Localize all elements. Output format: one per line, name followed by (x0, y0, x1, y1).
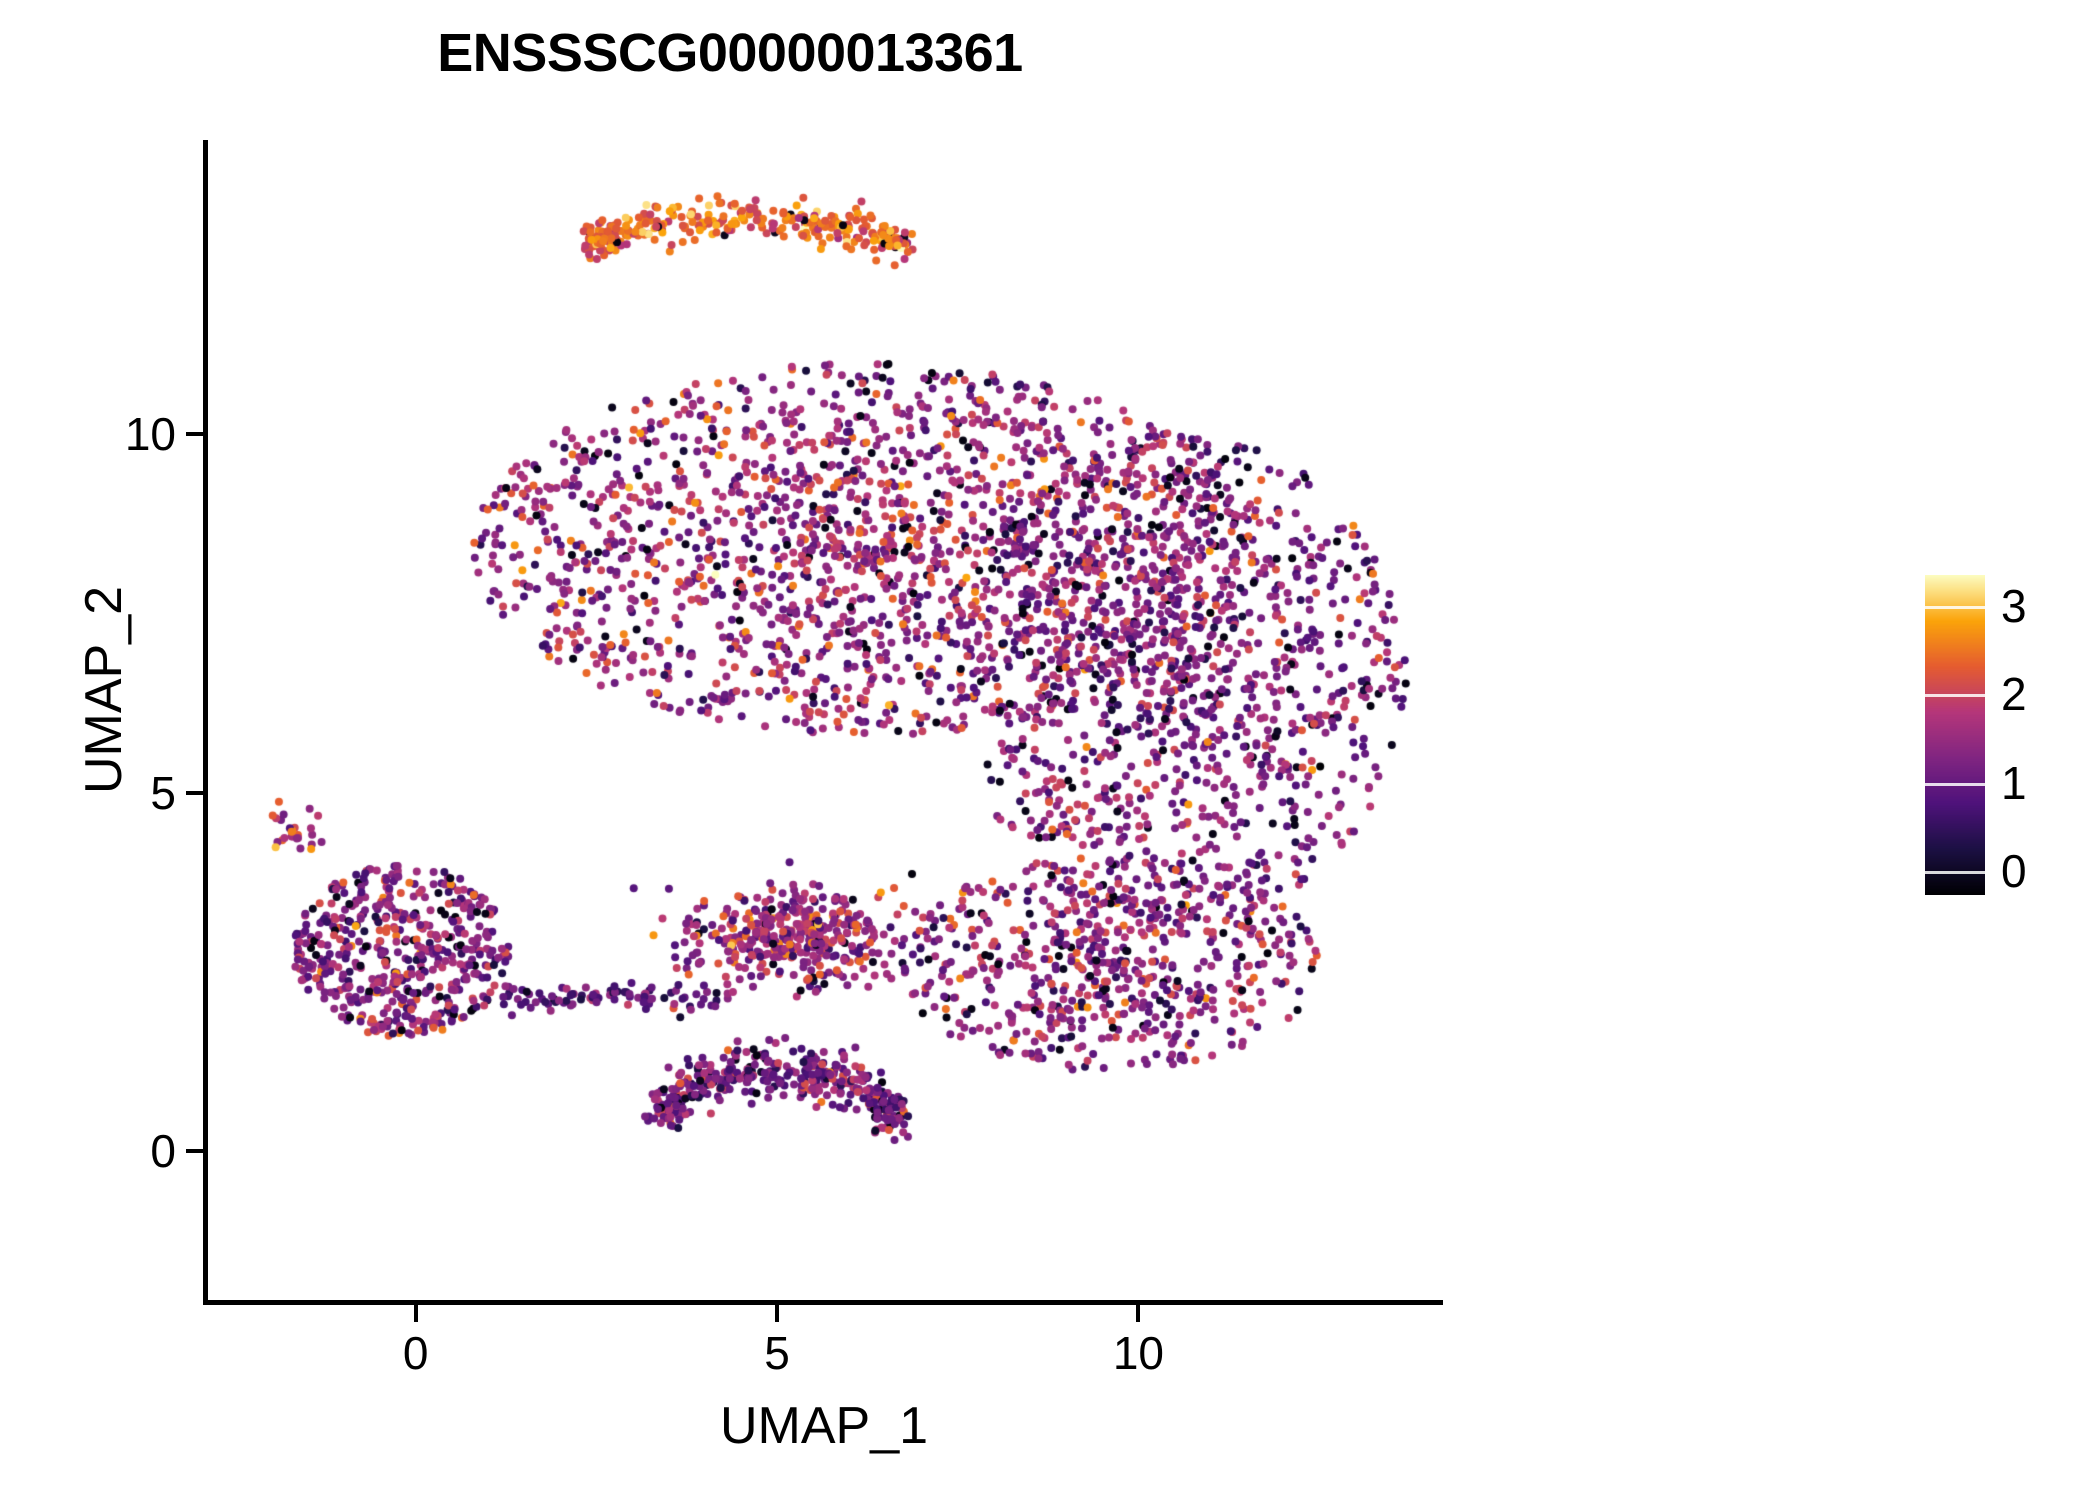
page-title: ENSSSCG00000013361 (0, 22, 1460, 84)
y-tick-mark (186, 791, 203, 795)
legend-tick-mark (1925, 606, 1985, 609)
y-tick-mark (186, 432, 203, 436)
legend-tick-mark (1925, 871, 1985, 874)
x-tick-label: 0 (403, 1326, 429, 1380)
y-axis-title: UMAP_2 (74, 290, 134, 1090)
legend-tick-label: 3 (2001, 579, 2027, 633)
legend-tick-mark (1925, 694, 1985, 697)
x-tick-label: 5 (764, 1326, 790, 1380)
x-tick-label: 10 (1113, 1326, 1164, 1380)
scatter-points-layer (206, 140, 1442, 1302)
legend-tick-label: 0 (2001, 844, 2027, 898)
color-legend-gradient-bar (1925, 575, 1985, 895)
y-tick-label: 0 (150, 1124, 176, 1178)
x-axis-title: UMAP_1 (206, 1396, 1442, 1456)
legend-tick-mark (1925, 783, 1985, 786)
legend-tick-label: 2 (2001, 667, 2027, 721)
y-tick-label: 5 (150, 766, 176, 820)
x-axis-line (203, 1300, 1443, 1305)
feature-plot-figure: ENSSSCG00000013361 0510 0510 UMAP_1 UMAP… (0, 0, 2100, 1500)
legend-tick-label: 1 (2001, 756, 2027, 810)
x-tick-mark (414, 1305, 418, 1322)
y-tick-mark (186, 1149, 203, 1153)
scatter-plot-panel (206, 140, 1442, 1302)
color-legend: 3210 (1925, 575, 2075, 901)
y-axis-line (203, 140, 208, 1304)
x-tick-mark (775, 1305, 779, 1322)
x-tick-mark (1136, 1305, 1140, 1322)
